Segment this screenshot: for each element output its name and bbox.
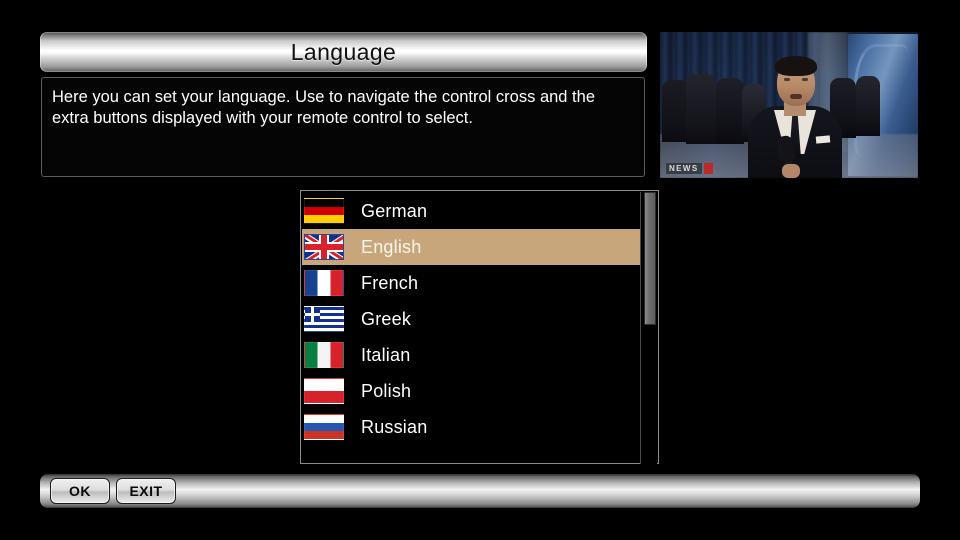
tv-osd-screen: Language Here you can set your language.…	[0, 0, 960, 540]
language-list-panel[interactable]: GermanEnglishFrenchGreekItalianPolishRus…	[300, 190, 659, 464]
flag-italy-icon	[304, 342, 344, 368]
video-crowd-person	[686, 74, 716, 144]
page-title: Language	[291, 39, 397, 66]
channel-logo: NEWS	[666, 163, 713, 174]
flag-france-icon	[304, 270, 344, 296]
language-list-item-label: Italian	[361, 345, 410, 366]
list-scrollbar-track[interactable]	[640, 192, 657, 464]
language-list-item-label: English	[361, 237, 421, 258]
language-list-item[interactable]: German	[302, 193, 642, 229]
language-list-item-label: Russian	[361, 417, 427, 438]
video-reporter-hand	[782, 164, 800, 178]
ok-button[interactable]: OK	[50, 478, 110, 504]
video-reporter-hair	[775, 56, 817, 76]
language-list-item[interactable]: Polish	[302, 373, 642, 409]
flag-greece-icon	[304, 306, 344, 332]
flag-russia-icon	[304, 414, 344, 440]
channel-logo-mark-icon	[704, 163, 713, 174]
video-reporter-eye-right	[802, 78, 808, 81]
description-text: Here you can set your language. Use to n…	[52, 87, 634, 129]
video-crowd-person	[662, 80, 688, 142]
softkey-bar: OKEXIT	[40, 474, 920, 508]
language-list-item[interactable]: Italian	[302, 337, 642, 373]
video-reporter-mouth	[790, 94, 802, 99]
description-panel: Here you can set your language. Use to n…	[41, 77, 645, 177]
page-title-bar: Language	[40, 32, 647, 72]
video-crowd-person	[716, 78, 744, 144]
list-scrollbar-thumb[interactable]	[644, 192, 656, 325]
video-reporter-eye-left	[784, 78, 790, 81]
language-list-item[interactable]: English	[302, 229, 642, 265]
video-crowd-person	[856, 76, 880, 136]
exit-button[interactable]: EXIT	[116, 478, 176, 504]
language-list-item[interactable]: Russian	[302, 409, 642, 445]
flag-germany-icon	[304, 198, 344, 224]
language-list-item[interactable]: Greek	[302, 301, 642, 337]
language-list[interactable]: GermanEnglishFrenchGreekItalianPolishRus…	[302, 193, 642, 445]
language-list-item-label: German	[361, 201, 427, 222]
video-preview[interactable]: NEWS	[660, 32, 918, 178]
language-list-item-label: French	[361, 273, 418, 294]
language-list-item[interactable]: French	[302, 265, 642, 301]
language-list-item-label: Polish	[361, 381, 411, 402]
language-list-item-label: Greek	[361, 309, 411, 330]
channel-logo-text: NEWS	[666, 163, 702, 174]
flag-poland-icon	[304, 378, 344, 404]
flag-united-kingdom-icon	[304, 234, 344, 260]
video-reporter-pocket-square	[816, 135, 831, 143]
